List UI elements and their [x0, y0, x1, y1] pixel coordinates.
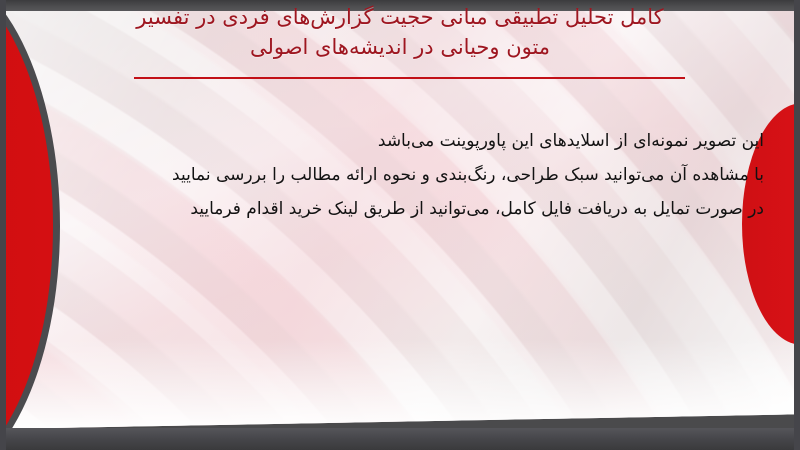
- frame-band-bottom: [0, 428, 800, 450]
- slide-title: کامل تحلیل تطبیقی مبانی حجیت گزارش‌های ف…: [120, 2, 680, 62]
- frame-band-left: [0, 0, 6, 450]
- body-line-3: در صورت تمایل به دریافت فایل کامل، می‌تو…: [64, 192, 764, 226]
- slide-body-text: این تصویر نمونه‌ای از اسلایدهای این پاور…: [64, 124, 764, 226]
- body-line-1: این تصویر نمونه‌ای از اسلایدهای این پاور…: [64, 124, 764, 158]
- title-underline-rule: [134, 77, 685, 79]
- body-line-2: با مشاهده آن می‌توانید سبک طراحی، رنگ‌بن…: [64, 158, 764, 192]
- frame-band-right: [794, 0, 800, 450]
- background-bottom-highlight: [0, 339, 800, 429]
- presentation-slide: کامل تحلیل تطبیقی مبانی حجیت گزارش‌های ف…: [0, 0, 800, 450]
